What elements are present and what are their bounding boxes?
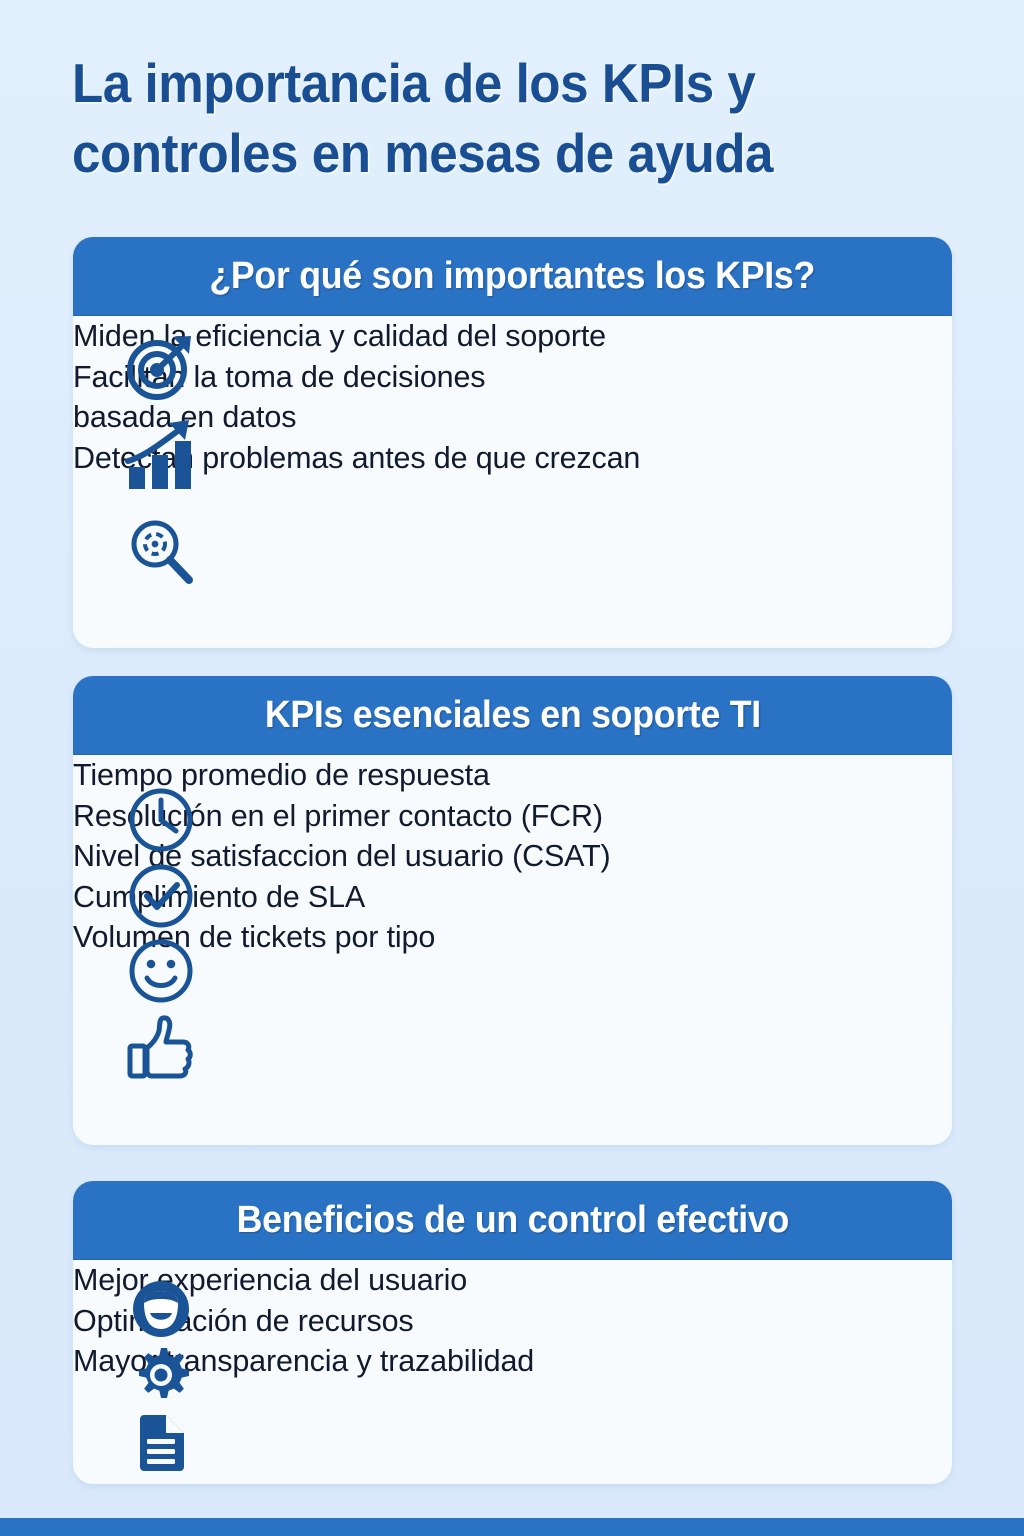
section-card-essential-kpis: KPIs esenciales en soporte TI [73, 676, 952, 1145]
section-header-benefits: Beneficios de un control efectivo [73, 1181, 952, 1260]
section-header-label: Beneficios de un control efectivo [236, 1199, 788, 1242]
section-card-benefits: Beneficios de un control efectivo [73, 1181, 952, 1484]
section-body-essential-kpis: Tiempo promedio de respuesta Resolución … [73, 755, 952, 1145]
page-title: La importancia de los KPIs y controles e… [72, 48, 890, 189]
magnifier-icon [121, 512, 201, 592]
list-item-text: Facilitan la toma de decisiones basada e… [73, 357, 952, 438]
section-header-essential-kpis: KPIs esenciales en soporte TI [73, 676, 952, 755]
list-item-text: Mejor experiencia del usuario [73, 1260, 952, 1301]
list-item-text: Miden la eficiencia y calidad del soport… [73, 316, 952, 357]
section-card-why-kpis-matter: ¿Por qué son importantes los KPIs? Miden… [73, 237, 952, 648]
list-item-text: Tiempo promedio de respuesta [73, 755, 952, 796]
list-item-text: Optimización de recursos [73, 1301, 952, 1342]
user-avatar-icon [121, 1276, 201, 1342]
list-item-text: Nivel de satisfaccion del usuario (CSAT) [73, 836, 952, 877]
list-item-text: Volumen de tickets por tipo [73, 917, 952, 958]
thumbs-up-icon [121, 1007, 201, 1087]
list-item-text: Resolución en el primer contacto (FCR) [73, 796, 952, 837]
target-arrow-icon [121, 326, 201, 406]
list-item-text: Cumplimiento de SLA [73, 877, 952, 918]
section-header-why-kpis-matter: ¿Por qué son importantes los KPIs? [73, 237, 952, 316]
section-body-why-kpis-matter: Miden la eficiencia y calidad del soport… [73, 316, 952, 648]
smiley-face-icon [121, 931, 201, 1011]
section-body-benefits: Mejor experiencia del usuario Optimizaci… [73, 1260, 952, 1484]
clock-icon [121, 780, 201, 860]
section-header-label: ¿Por qué son importantes los KPIs? [210, 255, 816, 298]
list-item-text: Detectan problemas antes de que crezcan [73, 438, 952, 479]
list-item-text: Mayor transparencia y trazabilidad [73, 1341, 952, 1382]
document-lines-icon [121, 1408, 201, 1474]
check-circle-icon [121, 856, 201, 936]
gear-icon [121, 1342, 201, 1408]
bar-chart-growth-icon [121, 413, 201, 495]
footer-accent-bar [0, 1518, 1024, 1536]
section-header-label: KPIs esenciales en soporte TI [264, 694, 760, 737]
